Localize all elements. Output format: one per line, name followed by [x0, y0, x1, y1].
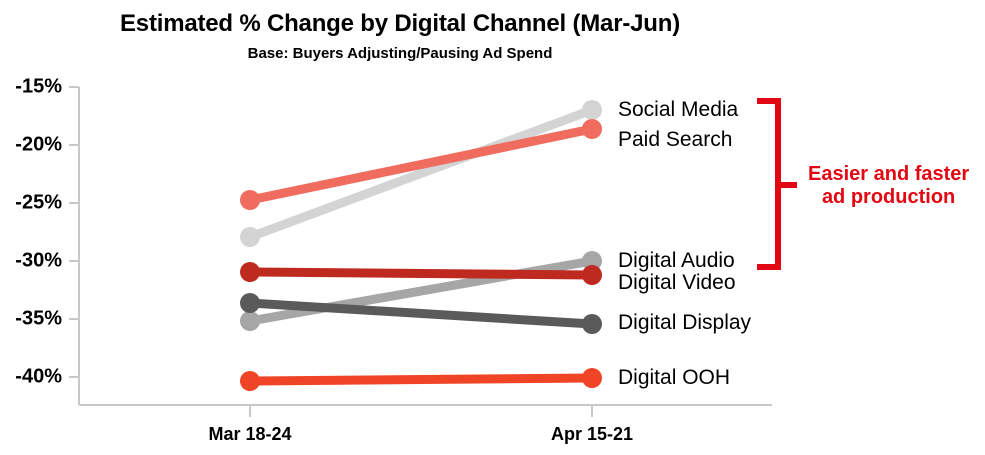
series-paid-search — [240, 119, 602, 210]
annotation-bracket-icon — [760, 101, 794, 267]
series-social-media — [240, 100, 602, 247]
axis-lines — [69, 87, 772, 417]
plot-area — [0, 0, 985, 455]
chart-container: Estimated % Change by Digital Channel (M… — [0, 0, 985, 455]
series-digital-ooh — [240, 368, 602, 391]
